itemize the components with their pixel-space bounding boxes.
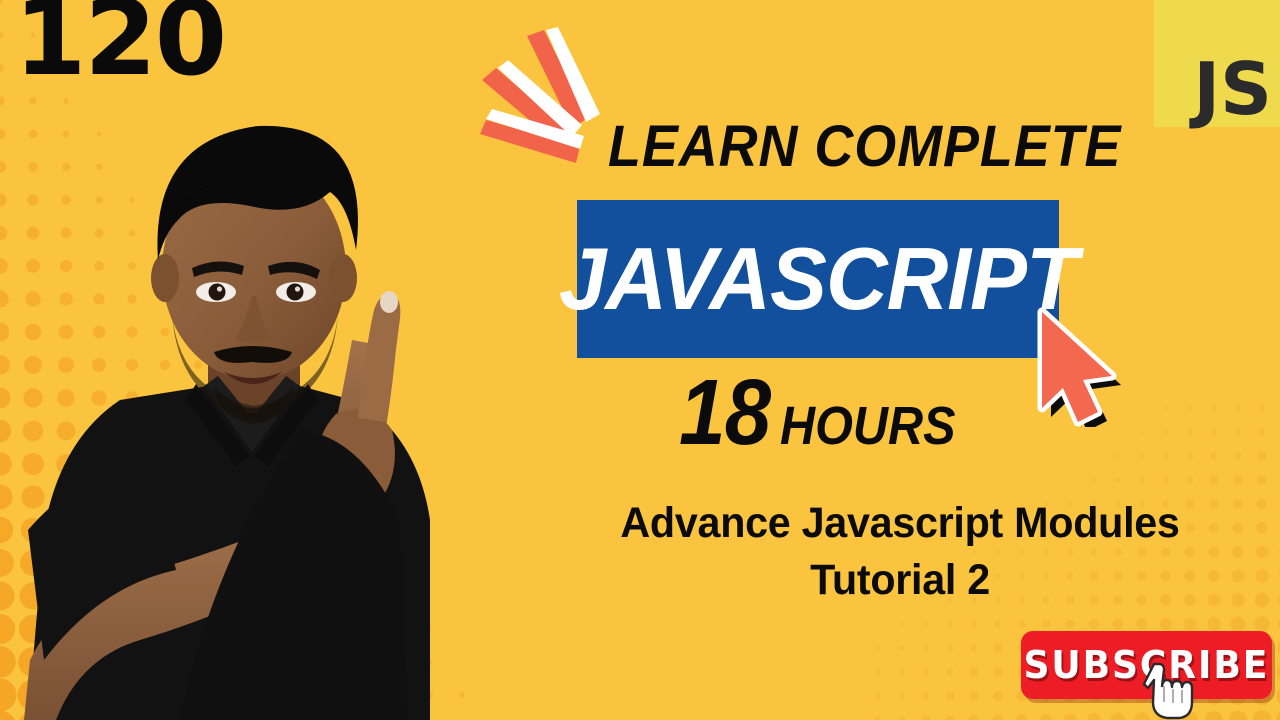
- js-logo-badge: JS: [1154, 0, 1280, 127]
- duration-unit: HOURS: [780, 399, 956, 453]
- duration-number: 18: [679, 366, 770, 459]
- headline-eyebrow: LEARN COMPLETE: [608, 118, 1121, 176]
- subtitle-line-1: Advance Javascript Modules: [535, 495, 1265, 552]
- arrow-cursor-icon: [1018, 302, 1128, 427]
- hand-pointer-cursor-icon: [1138, 662, 1198, 720]
- subtitle-block: Advance Javascript Modules Tutorial 2: [520, 495, 1280, 609]
- duration-line: 18 HOURS: [679, 366, 975, 459]
- presenter-photo: [0, 100, 540, 720]
- js-logo-text: JS: [1193, 53, 1272, 125]
- youtube-thumbnail: 120: [0, 0, 1280, 720]
- javascript-title-box: JAVASCRIPT: [577, 200, 1059, 358]
- episode-count-badge: 120: [14, 0, 225, 90]
- subtitle-line-2: Tutorial 2: [535, 552, 1265, 609]
- javascript-title-text: JAVASCRIPT: [559, 235, 1077, 323]
